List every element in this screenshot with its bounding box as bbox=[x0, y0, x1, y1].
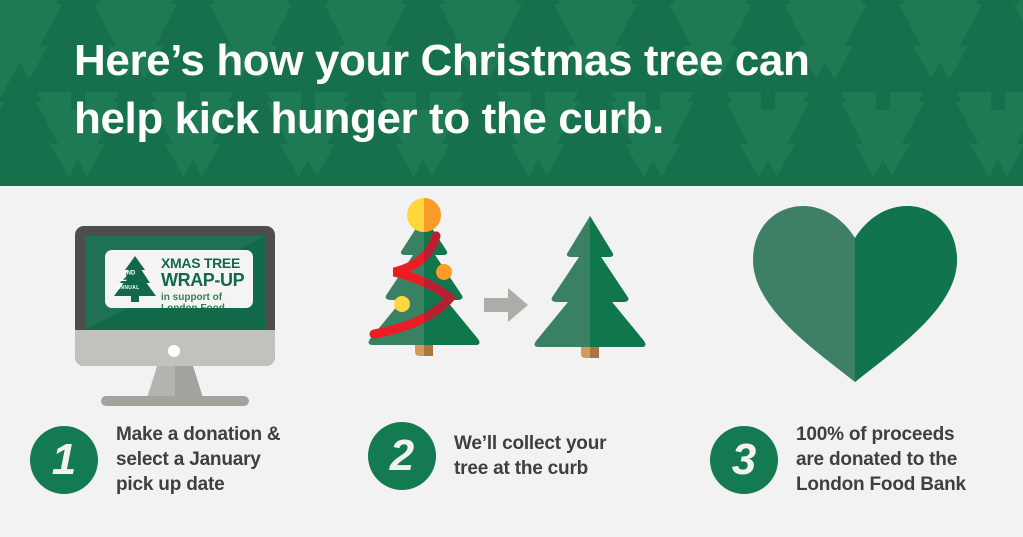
step-3-line-2: are donated to the bbox=[796, 447, 966, 472]
step-1-line-3: pick up date bbox=[116, 472, 280, 497]
step-2-line-1: We’ll collect your bbox=[454, 431, 606, 456]
xmas-tree-wrap-up-logo: 2ND ANNUAL XMAS TREE WRAP-UP in support … bbox=[105, 250, 253, 308]
step-2-number: 2 bbox=[368, 422, 436, 490]
monitor-stand-shadow bbox=[175, 366, 203, 398]
monitor-chin bbox=[75, 330, 275, 366]
step-panel-2: 2 We’ll collect your tree at the curb bbox=[350, 186, 690, 537]
step-1-number: 1 bbox=[30, 426, 98, 494]
logo-line-3: in support of bbox=[161, 292, 251, 303]
step-2: 2 We’ll collect your tree at the curb bbox=[368, 422, 606, 490]
step-2-badge: 2 bbox=[368, 422, 436, 490]
step-3-line-3: London Food Bank bbox=[796, 472, 966, 497]
step-1-text: Make a donation & select a January pick … bbox=[116, 422, 280, 497]
header-banner: Here’s how your Christmas tree can help … bbox=[0, 0, 1023, 186]
step-3-number: 3 bbox=[710, 426, 778, 494]
decorated-christmas-tree-icon bbox=[358, 194, 488, 374]
headline-line-2: help kick hunger to the curb. bbox=[74, 90, 974, 148]
headline-line-1: Here’s how your Christmas tree can bbox=[74, 32, 974, 90]
monitor-power-dot bbox=[168, 345, 180, 357]
step-1-line-2: select a January bbox=[116, 447, 280, 472]
monitor-stand-base bbox=[101, 396, 249, 406]
step-2-text: We’ll collect your tree at the curb bbox=[454, 431, 606, 481]
step-3: 3 100% of proceeds are donated to the Lo… bbox=[710, 422, 966, 497]
step-1-badge: 1 bbox=[30, 426, 98, 494]
logo-wordmark: XMAS TREE WRAP-UP in support of London F… bbox=[161, 256, 251, 308]
step-3-line-1: 100% of proceeds bbox=[796, 422, 966, 447]
step-1: 1 Make a donation & select a January pic… bbox=[30, 422, 280, 497]
logo-line-1: XMAS TREE bbox=[161, 256, 251, 271]
arrow-right-icon bbox=[484, 286, 528, 324]
step-1-line-1: Make a donation & bbox=[116, 422, 280, 447]
tree-scene bbox=[350, 186, 690, 422]
step-2-line-2: tree at the curb bbox=[454, 456, 606, 481]
step-panel-1: 2ND ANNUAL XMAS TREE WRAP-UP in support … bbox=[0, 186, 350, 537]
trees-illustration bbox=[350, 186, 690, 422]
step-3-badge: 3 bbox=[710, 426, 778, 494]
step-panel-3: 3 100% of proceeds are donated to the Lo… bbox=[690, 186, 1023, 537]
monitor-screen: 2ND ANNUAL XMAS TREE WRAP-UP in support … bbox=[85, 236, 265, 330]
heart-icon bbox=[745, 200, 965, 385]
logo-line-4: London Food Bank bbox=[161, 303, 251, 308]
heart-illustration bbox=[690, 186, 1023, 422]
page-title: Here’s how your Christmas tree can help … bbox=[74, 32, 974, 148]
infographic-root: Here’s how your Christmas tree can help … bbox=[0, 0, 1023, 537]
logo-tree-icon bbox=[112, 255, 158, 303]
logo-line-2: WRAP-UP bbox=[161, 271, 251, 290]
monitor-illustration: 2ND ANNUAL XMAS TREE WRAP-UP in support … bbox=[0, 186, 350, 422]
plain-christmas-tree-icon bbox=[528, 208, 652, 370]
step-3-text: 100% of proceeds are donated to the Lond… bbox=[796, 422, 966, 497]
steps-section: 2ND ANNUAL XMAS TREE WRAP-UP in support … bbox=[0, 186, 1023, 537]
